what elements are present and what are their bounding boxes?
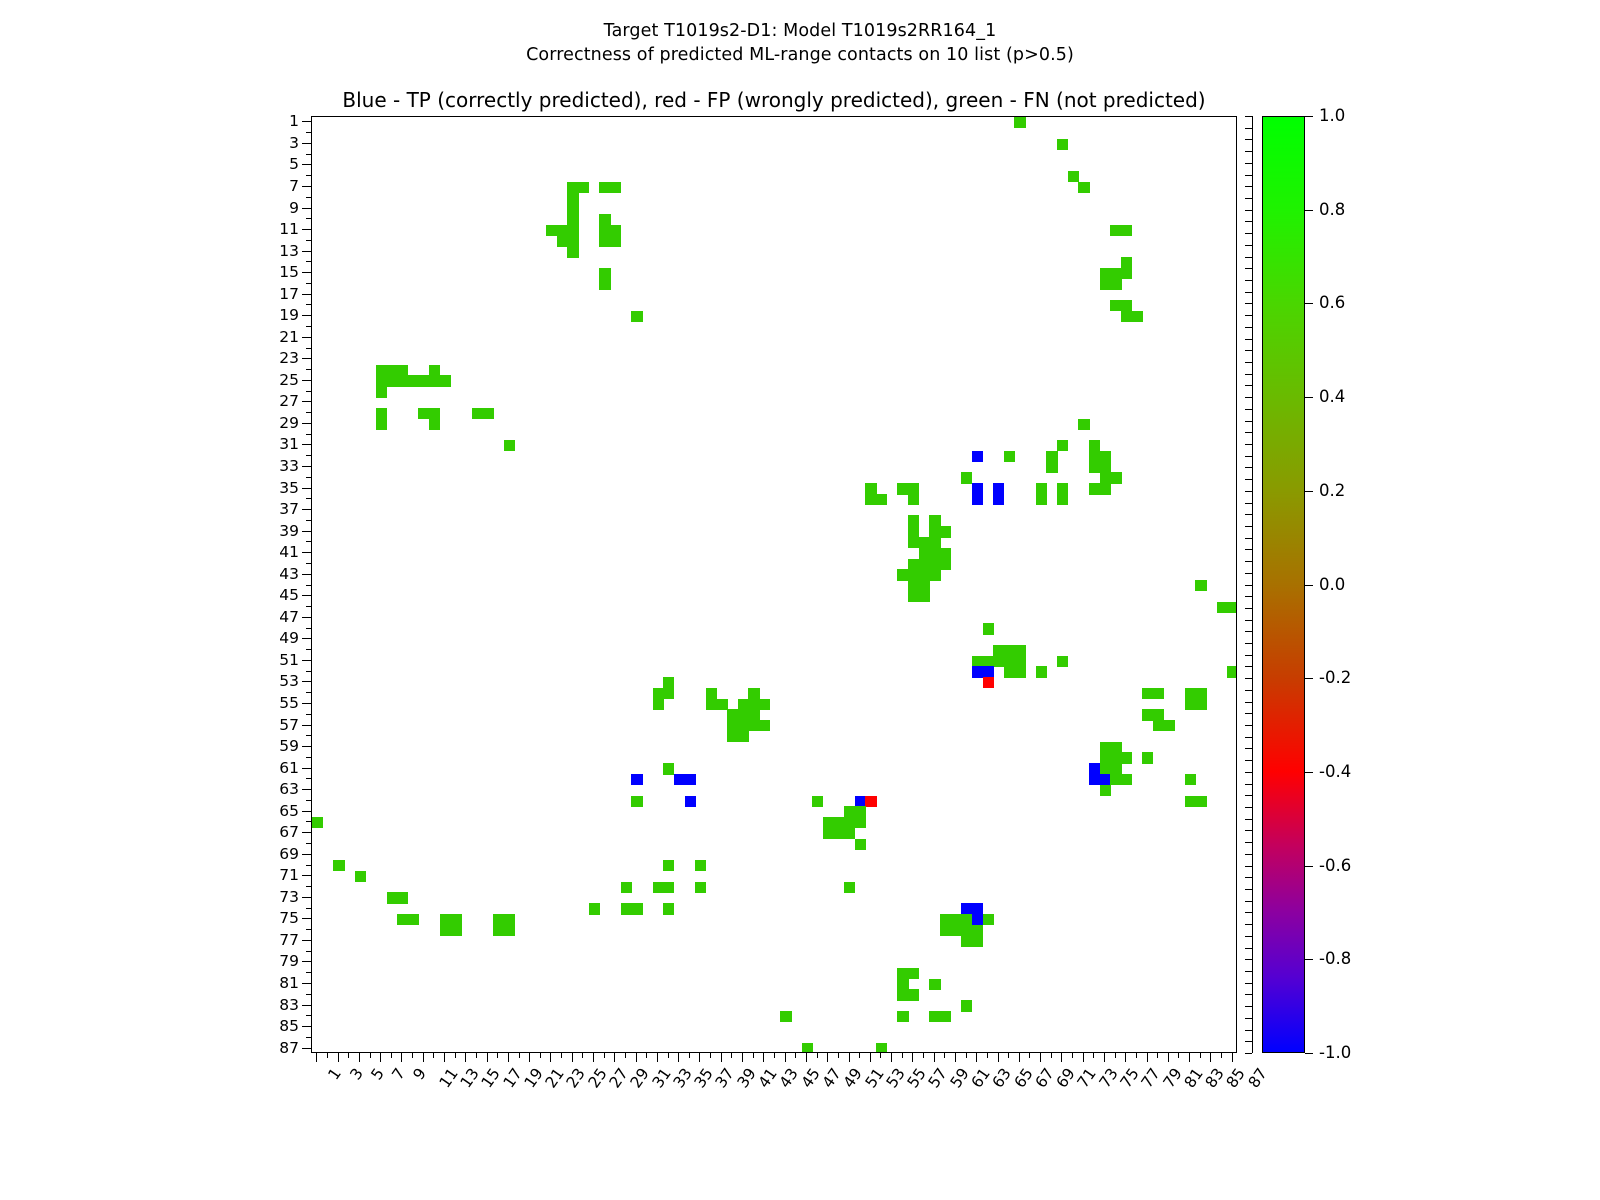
colorbar-minor-tick bbox=[1245, 397, 1252, 398]
contact-cell bbox=[1132, 311, 1143, 322]
contact-cell bbox=[599, 268, 610, 279]
contact-cell bbox=[1142, 709, 1153, 720]
y-tick bbox=[302, 552, 311, 553]
contact-cell bbox=[738, 709, 749, 720]
colorbar-minor-tick bbox=[1245, 221, 1252, 222]
contact-cell bbox=[621, 903, 632, 914]
colorbar-minor-tick bbox=[1245, 526, 1252, 527]
contact-cell bbox=[1100, 451, 1111, 462]
axes-legend-title: Blue - TP (correctly predicted), red - F… bbox=[311, 88, 1237, 112]
contact-cell bbox=[972, 451, 983, 462]
colorbar-tick-label: 1.0 bbox=[1319, 108, 1345, 125]
contact-cell bbox=[504, 440, 515, 451]
y-tick bbox=[306, 455, 311, 456]
contact-cell bbox=[919, 559, 930, 570]
contact-cell bbox=[504, 925, 515, 936]
x-tick bbox=[327, 1053, 328, 1058]
contact-cell bbox=[972, 936, 983, 947]
y-tick bbox=[302, 703, 311, 704]
contact-cell bbox=[1195, 796, 1206, 807]
x-tick bbox=[763, 1053, 764, 1062]
y-tick bbox=[302, 746, 311, 747]
x-tick bbox=[1083, 1053, 1084, 1062]
colorbar-minor-tick bbox=[1245, 994, 1252, 995]
contact-cell bbox=[621, 882, 632, 893]
y-tick-label: 73 bbox=[239, 890, 299, 906]
contact-cell bbox=[929, 537, 940, 548]
y-tick bbox=[302, 444, 311, 445]
contact-cell bbox=[929, 1011, 940, 1022]
contact-cell bbox=[834, 817, 845, 828]
contact-cell bbox=[1057, 483, 1068, 494]
y-tick bbox=[302, 854, 311, 855]
contact-cell bbox=[908, 989, 919, 1000]
contact-cell bbox=[929, 979, 940, 990]
x-tick bbox=[412, 1053, 413, 1058]
x-tick bbox=[795, 1053, 796, 1058]
y-tick bbox=[306, 951, 311, 952]
contact-cell bbox=[578, 182, 589, 193]
y-tick-label: 85 bbox=[239, 1019, 299, 1035]
contact-cell bbox=[961, 925, 972, 936]
contact-cell bbox=[802, 1043, 813, 1053]
contact-cell bbox=[1004, 666, 1015, 677]
contact-cell bbox=[567, 235, 578, 246]
x-tick bbox=[476, 1053, 477, 1058]
contact-cell bbox=[865, 796, 876, 807]
contact-cell bbox=[855, 817, 866, 828]
x-tick bbox=[380, 1053, 381, 1062]
contact-cell bbox=[429, 365, 440, 376]
colorbar-tick bbox=[1305, 678, 1313, 679]
x-tick bbox=[1040, 1053, 1041, 1062]
colorbar-minor-tick bbox=[1245, 666, 1252, 667]
contact-cell bbox=[1100, 483, 1111, 494]
contact-cell bbox=[897, 979, 908, 990]
y-tick-label: 37 bbox=[239, 502, 299, 518]
x-tick bbox=[870, 1053, 871, 1062]
colorbar-minor-tick bbox=[1245, 596, 1252, 597]
contact-cell bbox=[1100, 279, 1111, 290]
x-tick bbox=[540, 1053, 541, 1058]
contact-cell bbox=[1089, 763, 1100, 774]
y-tick bbox=[302, 897, 311, 898]
contact-cell bbox=[663, 763, 674, 774]
y-tick bbox=[306, 434, 311, 435]
contact-cell bbox=[993, 645, 1004, 656]
contact-cell bbox=[961, 914, 972, 925]
colorbar-minor-tick bbox=[1245, 385, 1252, 386]
contact-cell bbox=[929, 548, 940, 559]
contact-cell bbox=[429, 408, 440, 419]
y-tick-label: 81 bbox=[239, 976, 299, 992]
x-tick-label: 87 bbox=[1246, 1066, 1270, 1091]
contact-cell bbox=[1100, 774, 1111, 785]
x-tick bbox=[646, 1053, 647, 1058]
contact-cell bbox=[1014, 117, 1025, 128]
contact-cell bbox=[1089, 774, 1100, 785]
colorbar-minor-tick bbox=[1245, 936, 1252, 937]
contact-cell bbox=[397, 914, 408, 925]
contact-cell bbox=[908, 968, 919, 979]
y-tick bbox=[302, 164, 311, 165]
contact-cell bbox=[823, 817, 834, 828]
y-tick bbox=[302, 875, 311, 876]
x-tick bbox=[827, 1053, 828, 1062]
colorbar-minor-tick bbox=[1245, 538, 1252, 539]
contact-cell bbox=[855, 839, 866, 850]
contact-cell bbox=[1089, 440, 1100, 451]
contact-cell bbox=[1014, 645, 1025, 656]
x-tick bbox=[912, 1053, 913, 1062]
contact-cell bbox=[1185, 796, 1196, 807]
contact-cell bbox=[589, 903, 600, 914]
y-tick bbox=[306, 197, 311, 198]
contact-cell bbox=[567, 214, 578, 225]
x-tick bbox=[1051, 1053, 1052, 1058]
y-tick-label: 79 bbox=[239, 954, 299, 970]
y-tick bbox=[302, 789, 311, 790]
colorbar-tick bbox=[1305, 959, 1313, 960]
colorbar-minor-tick bbox=[1245, 971, 1252, 972]
x-tick bbox=[529, 1053, 530, 1062]
colorbar-minor-tick bbox=[1245, 432, 1252, 433]
y-tick bbox=[302, 294, 311, 295]
contact-cell bbox=[940, 925, 951, 936]
contact-cell bbox=[663, 882, 674, 893]
y-tick-label: 27 bbox=[239, 394, 299, 410]
contact-cell bbox=[1004, 451, 1015, 462]
colorbar-tick-label: 0.8 bbox=[1319, 202, 1345, 219]
colorbar-minor-tick-spine bbox=[1252, 116, 1253, 1053]
contact-cell bbox=[855, 796, 866, 807]
contact-cell bbox=[919, 548, 930, 559]
x-tick bbox=[976, 1053, 977, 1062]
x-tick bbox=[699, 1053, 700, 1062]
contact-cell bbox=[376, 419, 387, 430]
x-tick bbox=[1093, 1053, 1094, 1058]
contact-cell bbox=[599, 182, 610, 193]
y-tick-label: 57 bbox=[239, 718, 299, 734]
colorbar-minor-tick bbox=[1245, 1041, 1252, 1042]
contact-cell bbox=[1004, 656, 1015, 667]
y-tick bbox=[302, 681, 311, 682]
contact-cell bbox=[1068, 171, 1079, 182]
contact-cell bbox=[610, 225, 621, 236]
contact-cell bbox=[1100, 742, 1111, 753]
x-tick bbox=[1019, 1053, 1020, 1062]
x-tick bbox=[859, 1053, 860, 1058]
contact-cell bbox=[440, 925, 451, 936]
y-tick bbox=[306, 606, 311, 607]
colorbar-minor-tick bbox=[1245, 702, 1252, 703]
colorbar-minor-tick bbox=[1245, 549, 1252, 550]
colorbar-minor-tick bbox=[1245, 561, 1252, 562]
contact-cell bbox=[1089, 451, 1100, 462]
y-tick bbox=[306, 886, 311, 887]
colorbar-minor-tick bbox=[1245, 198, 1252, 199]
y-tick-label: 45 bbox=[239, 588, 299, 604]
contact-cell bbox=[844, 882, 855, 893]
colorbar-tick-label: -0.6 bbox=[1319, 858, 1351, 875]
contact-cell bbox=[972, 656, 983, 667]
contact-cell bbox=[599, 235, 610, 246]
y-tick-label: 43 bbox=[239, 567, 299, 583]
colorbar-tick bbox=[1305, 210, 1313, 211]
contact-cell bbox=[940, 559, 951, 570]
contact-cell bbox=[1142, 752, 1153, 763]
x-tick bbox=[934, 1053, 935, 1062]
contact-cell bbox=[408, 914, 419, 925]
y-tick bbox=[302, 121, 311, 122]
y-tick bbox=[302, 1026, 311, 1027]
contact-cell bbox=[780, 1011, 791, 1022]
contact-cell bbox=[1121, 225, 1132, 236]
contact-cell bbox=[929, 515, 940, 526]
colorbar-minor-tick bbox=[1245, 924, 1252, 925]
contact-cell bbox=[1100, 752, 1111, 763]
colorbar-minor-tick bbox=[1245, 690, 1252, 691]
x-tick bbox=[550, 1053, 551, 1062]
y-tick bbox=[306, 283, 311, 284]
x-tick bbox=[593, 1053, 594, 1062]
x-tick bbox=[1104, 1053, 1105, 1062]
x-tick-label: 7 bbox=[390, 1066, 408, 1083]
y-tick bbox=[302, 488, 311, 489]
y-tick bbox=[302, 1048, 311, 1049]
contact-cell bbox=[1036, 666, 1047, 677]
contact-cell bbox=[972, 925, 983, 936]
contact-cell bbox=[1089, 462, 1100, 473]
contact-cell bbox=[631, 903, 642, 914]
y-tick bbox=[302, 531, 311, 532]
colorbar-tick bbox=[1305, 303, 1313, 304]
colorbar-minor-tick bbox=[1245, 678, 1252, 679]
y-tick bbox=[306, 735, 311, 736]
colorbar-tick-label: -0.4 bbox=[1319, 764, 1351, 781]
contact-cell bbox=[1057, 139, 1068, 150]
x-tick bbox=[849, 1053, 850, 1062]
colorbar-minor-tick bbox=[1245, 362, 1252, 363]
y-tick-label: 49 bbox=[239, 631, 299, 647]
contact-cell bbox=[567, 246, 578, 257]
contact-cell bbox=[972, 666, 983, 677]
colorbar-tick-label: -0.8 bbox=[1319, 951, 1351, 968]
y-tick bbox=[306, 994, 311, 995]
x-tick bbox=[880, 1053, 881, 1058]
contact-cell bbox=[812, 796, 823, 807]
x-tick bbox=[998, 1053, 999, 1062]
contact-cell bbox=[748, 720, 759, 731]
y-tick bbox=[306, 1015, 311, 1016]
x-tick bbox=[902, 1053, 903, 1058]
x-tick bbox=[316, 1053, 317, 1062]
contact-cell bbox=[1110, 225, 1121, 236]
colorbar-minor-tick bbox=[1245, 491, 1252, 492]
contact-cell bbox=[1100, 472, 1111, 483]
colorbar-minor-tick bbox=[1245, 819, 1252, 820]
x-tick-label: 1 bbox=[327, 1066, 345, 1083]
contact-cell bbox=[663, 677, 674, 688]
contact-cell bbox=[844, 806, 855, 817]
x-tick bbox=[625, 1053, 626, 1058]
contact-cell bbox=[1057, 656, 1068, 667]
colorbar-minor-tick bbox=[1245, 620, 1252, 621]
colorbar-tick-label: 0.4 bbox=[1319, 389, 1345, 406]
contact-cell bbox=[748, 699, 759, 710]
y-tick bbox=[302, 595, 311, 596]
contact-cell bbox=[1036, 494, 1047, 505]
contact-cell bbox=[1185, 699, 1196, 710]
y-tick bbox=[306, 821, 311, 822]
contact-cell bbox=[1110, 472, 1121, 483]
contact-cell bbox=[876, 494, 887, 505]
y-tick-label: 47 bbox=[239, 610, 299, 626]
contact-map-figure: Target T1019s2-D1: Model T1019s2RR164_1 … bbox=[0, 0, 1600, 1200]
y-tick bbox=[302, 401, 311, 402]
x-tick bbox=[359, 1053, 360, 1062]
contact-cell bbox=[1153, 720, 1164, 731]
x-tick bbox=[508, 1053, 509, 1062]
contact-cell bbox=[865, 494, 876, 505]
contact-cell bbox=[716, 699, 727, 710]
contact-cell bbox=[940, 914, 951, 925]
y-tick-label: 39 bbox=[239, 524, 299, 540]
x-tick bbox=[1072, 1053, 1073, 1058]
contact-cell bbox=[929, 526, 940, 537]
contact-cell bbox=[631, 774, 642, 785]
y-tick bbox=[306, 929, 311, 930]
contact-cell bbox=[759, 699, 770, 710]
x-tick bbox=[370, 1053, 371, 1058]
contact-cell bbox=[951, 914, 962, 925]
y-tick bbox=[306, 563, 311, 564]
contact-cell bbox=[1110, 752, 1121, 763]
contact-cell bbox=[1057, 440, 1068, 451]
contact-cell bbox=[748, 688, 759, 699]
contact-cell bbox=[897, 968, 908, 979]
y-tick-label: 75 bbox=[239, 911, 299, 927]
y-tick-label: 31 bbox=[239, 437, 299, 453]
contact-cell bbox=[1163, 720, 1174, 731]
contact-cell bbox=[376, 408, 387, 419]
colorbar-minor-tick bbox=[1245, 631, 1252, 632]
colorbar-minor-tick bbox=[1245, 842, 1252, 843]
contact-cell bbox=[450, 925, 461, 936]
contact-cell bbox=[908, 537, 919, 548]
contact-map-plot[interactable] bbox=[311, 116, 1237, 1053]
colorbar-minor-tick bbox=[1245, 456, 1252, 457]
contact-cell bbox=[1153, 709, 1164, 720]
contact-cell bbox=[1100, 763, 1111, 774]
contact-cell bbox=[1217, 602, 1228, 613]
colorbar-minor-tick bbox=[1245, 139, 1252, 140]
y-tick bbox=[306, 240, 311, 241]
contact-cell bbox=[908, 569, 919, 580]
y-tick-label: 67 bbox=[239, 825, 299, 841]
contact-cell bbox=[376, 386, 387, 397]
y-tick-label: 71 bbox=[239, 868, 299, 884]
contact-cell bbox=[1004, 645, 1015, 656]
y-tick bbox=[302, 961, 311, 962]
contact-cell bbox=[1153, 688, 1164, 699]
contact-cell bbox=[1121, 752, 1132, 763]
colorbar-minor-tick bbox=[1245, 877, 1252, 878]
contact-cell bbox=[472, 408, 483, 419]
contact-cell bbox=[1057, 494, 1068, 505]
contact-cell bbox=[983, 677, 994, 688]
contact-cell bbox=[1110, 742, 1121, 753]
contact-cell bbox=[653, 699, 664, 710]
contact-cell bbox=[1110, 763, 1121, 774]
colorbar-minor-tick bbox=[1245, 315, 1252, 316]
contact-cell bbox=[993, 656, 1004, 667]
contact-cell bbox=[418, 375, 429, 386]
y-tick bbox=[306, 391, 311, 392]
y-tick bbox=[302, 638, 311, 639]
colorbar-minor-tick bbox=[1245, 339, 1252, 340]
x-tick bbox=[433, 1053, 434, 1058]
contact-cell bbox=[408, 375, 419, 386]
contact-cell bbox=[429, 375, 440, 386]
colorbar-tick bbox=[1305, 1053, 1313, 1054]
y-tick bbox=[306, 585, 311, 586]
y-tick bbox=[302, 940, 311, 941]
x-tick bbox=[1157, 1053, 1158, 1058]
colorbar-minor-tick bbox=[1245, 655, 1252, 656]
contact-cell bbox=[897, 989, 908, 1000]
colorbar-minor-tick bbox=[1245, 912, 1252, 913]
contact-cell bbox=[929, 569, 940, 580]
y-tick bbox=[302, 811, 311, 812]
y-tick-label: 1 bbox=[239, 114, 299, 130]
colorbar-minor-tick bbox=[1245, 210, 1252, 211]
contact-cell bbox=[1078, 419, 1089, 430]
figure-title-line-1: Target T1019s2-D1: Model T1019s2RR164_1 bbox=[0, 20, 1600, 44]
x-tick bbox=[444, 1053, 445, 1062]
contact-cell bbox=[333, 860, 344, 871]
colorbar-tick-label: 0.2 bbox=[1319, 483, 1345, 500]
contact-cell bbox=[1227, 666, 1237, 677]
x-tick bbox=[497, 1053, 498, 1058]
contact-cell bbox=[674, 774, 685, 785]
x-tick bbox=[1115, 1053, 1116, 1058]
y-tick bbox=[306, 843, 311, 844]
colorbar-minor-tick bbox=[1245, 514, 1252, 515]
x-tick bbox=[519, 1053, 520, 1058]
contact-cell bbox=[919, 580, 930, 591]
contact-cell bbox=[397, 365, 408, 376]
colorbar-minor-tick bbox=[1245, 163, 1252, 164]
contact-cell bbox=[450, 914, 461, 925]
contact-cell bbox=[919, 569, 930, 580]
contact-cell bbox=[1046, 462, 1057, 473]
contact-cell bbox=[993, 483, 1004, 494]
contact-cell bbox=[504, 914, 515, 925]
contact-cell bbox=[876, 1043, 887, 1053]
colorbar-minor-tick bbox=[1245, 1018, 1252, 1019]
colorbar-minor-tick bbox=[1245, 503, 1252, 504]
contact-cell bbox=[567, 192, 578, 203]
contact-cell bbox=[610, 235, 621, 246]
contact-cell bbox=[663, 903, 674, 914]
y-tick-label: 77 bbox=[239, 933, 299, 949]
y-tick bbox=[306, 692, 311, 693]
contact-cell bbox=[631, 311, 642, 322]
y-tick-label: 19 bbox=[239, 308, 299, 324]
contact-cell bbox=[1195, 688, 1206, 699]
x-tick bbox=[753, 1053, 754, 1058]
